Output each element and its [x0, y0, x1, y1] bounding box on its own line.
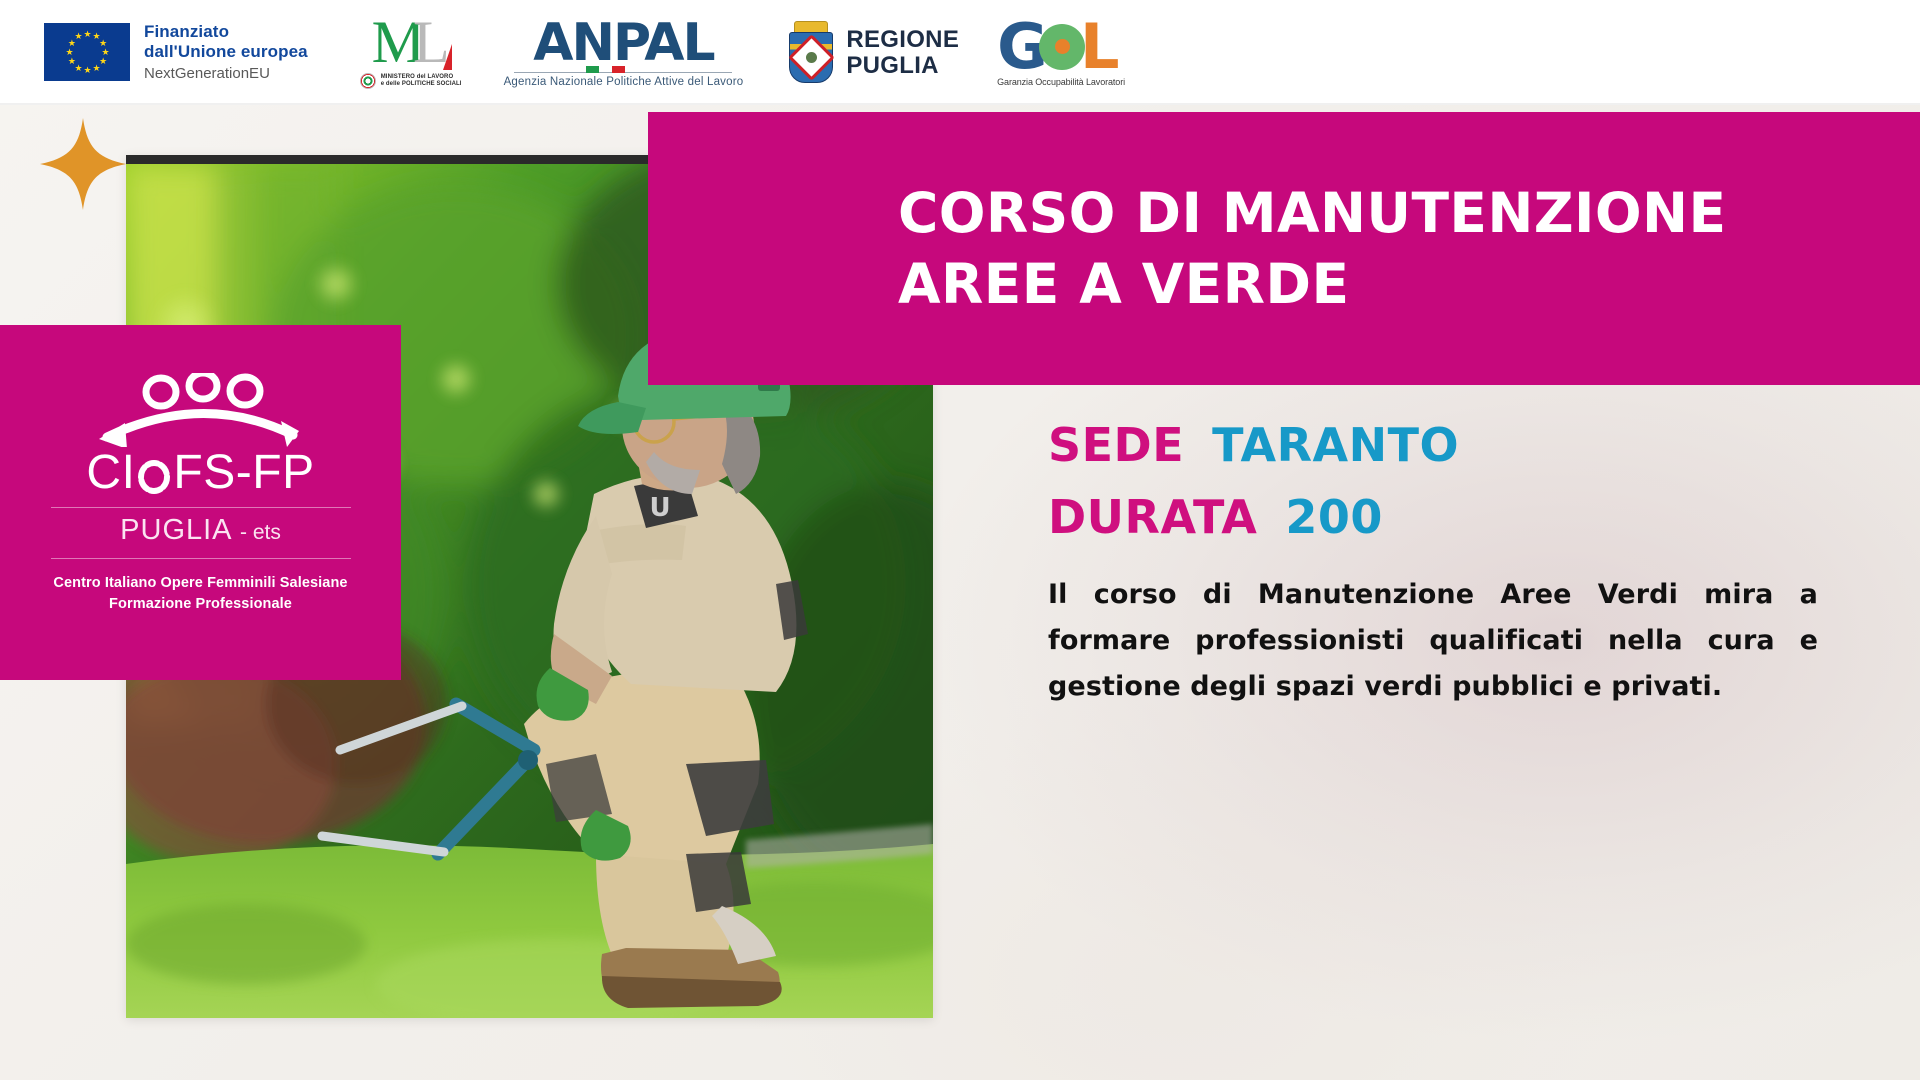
gol-tagline: Garanzia Occupabilità Lavoratori: [997, 77, 1125, 87]
eu-star-icon: ★: [84, 31, 91, 38]
durata-label: DURATA: [1048, 490, 1257, 544]
gol-wordmark-icon: G L: [997, 19, 1115, 75]
anpal-logo: ANPAL Agenzia Nazionale Politiche Attive…: [504, 17, 744, 88]
eu-funding-logo: ★★★★★★★★★★★★ Finanziato dall'Unione euro…: [44, 22, 308, 82]
four-point-star-icon: [40, 118, 126, 210]
funding-logos-header: ★★★★★★★★★★★★ Finanziato dall'Unione euro…: [0, 0, 1920, 105]
gol-logo: G L Garanzia Occupabilità Lavoratori: [997, 19, 1125, 87]
sede-value: TARANTO: [1212, 418, 1459, 472]
eu-star-icon: ★: [68, 40, 75, 47]
durata-value: 200: [1285, 490, 1383, 544]
eu-star-icon: ★: [93, 65, 100, 72]
sede-row: SEDE TARANTO: [1048, 418, 1843, 472]
regione-line-1: REGIONE: [846, 27, 959, 53]
ministero-subtitle: MINISTERO del LAVORO e delle POLITICHE S…: [360, 73, 462, 89]
anpal-flag-rule-icon: [514, 72, 732, 73]
ciofs-fp-wordmark: CIFS-FP: [86, 449, 314, 497]
ministero-lavoro-logo: ML MINISTERO del LAVORO e delle POLITICH…: [360, 16, 462, 89]
course-title-banner: CORSO DI MANUTENZIONE AREE A VERDE: [648, 112, 1920, 385]
eu-line-1: Finanziato: [144, 22, 308, 42]
gol-letter-o: [1039, 24, 1085, 70]
regione-puglia-logo: REGIONE PUGLIA: [787, 21, 959, 85]
anpal-tagline: Agenzia Nazionale Politiche Attive del L…: [504, 76, 744, 88]
ciofs-fp-logo-box: CIFS-FP PUGLIA - ets Centro Italiano Ope…: [0, 325, 401, 680]
durata-row: DURATA 200: [1048, 490, 1843, 544]
eu-star-icon: ★: [68, 58, 75, 65]
ciofs-name-part-2: FS-FP: [173, 449, 314, 497]
ciofs-sketch-o-icon: [134, 449, 174, 497]
sede-label: SEDE: [1048, 418, 1184, 472]
ciofs-arc-three-circles-icon: [85, 373, 317, 447]
eu-star-icon: ★: [75, 33, 82, 40]
ciofs-full-name: Centro Italiano Opere Femminili Salesian…: [53, 573, 347, 615]
italian-republic-emblem-icon: [360, 73, 376, 89]
eu-logo-text: Finanziato dall'Unione europea NextGener…: [144, 22, 308, 82]
eu-star-icon: ★: [99, 40, 106, 47]
ml-monogram-icon: ML: [372, 16, 450, 72]
course-title-line-2: AREE A VERDE: [898, 249, 1880, 319]
svg-text:U: U: [649, 493, 670, 523]
ciofs-desc-line-1: Centro Italiano Opere Femminili Salesian…: [53, 573, 347, 594]
ministero-sub-line-1: MINISTERO del LAVORO: [381, 74, 462, 81]
regione-puglia-shield-icon: [787, 21, 835, 85]
eu-line-2: dall'Unione europea: [144, 42, 308, 62]
ciofs-name-part-1: CI: [86, 449, 135, 497]
eu-line-3: NextGenerationEU: [144, 65, 308, 83]
course-info-panel: SEDE TARANTO DURATA 200 Il corso di Manu…: [1048, 418, 1843, 710]
ciofs-region-suffix: - ets: [240, 521, 281, 544]
eu-star-icon: ★: [66, 49, 73, 56]
eu-star-icon: ★: [102, 49, 109, 56]
eu-flag-icon: ★★★★★★★★★★★★: [44, 23, 130, 81]
regione-line-2: PUGLIA: [846, 53, 959, 79]
ministero-sub-line-2: e delle POLITICHE SOCIALI: [381, 81, 462, 88]
regione-puglia-text: REGIONE PUGLIA: [846, 27, 959, 79]
ciofs-divider-bottom: [51, 558, 351, 559]
anpal-wordmark: ANPAL: [533, 17, 713, 69]
ciofs-desc-line-2: Formazione Professionale: [53, 594, 347, 615]
gol-letter-g: G: [997, 16, 1043, 78]
eu-star-icon: ★: [84, 67, 91, 74]
ciofs-region-label: PUGLIA - ets: [120, 512, 281, 548]
ciofs-region: PUGLIA: [120, 514, 231, 546]
course-description: Il corso di Manutenzione Aree Verdi mira…: [1048, 572, 1818, 710]
course-title-line-1: CORSO DI MANUTENZIONE: [898, 178, 1880, 248]
gol-letter-l: L: [1080, 16, 1116, 78]
ciofs-divider-top: [51, 507, 351, 508]
